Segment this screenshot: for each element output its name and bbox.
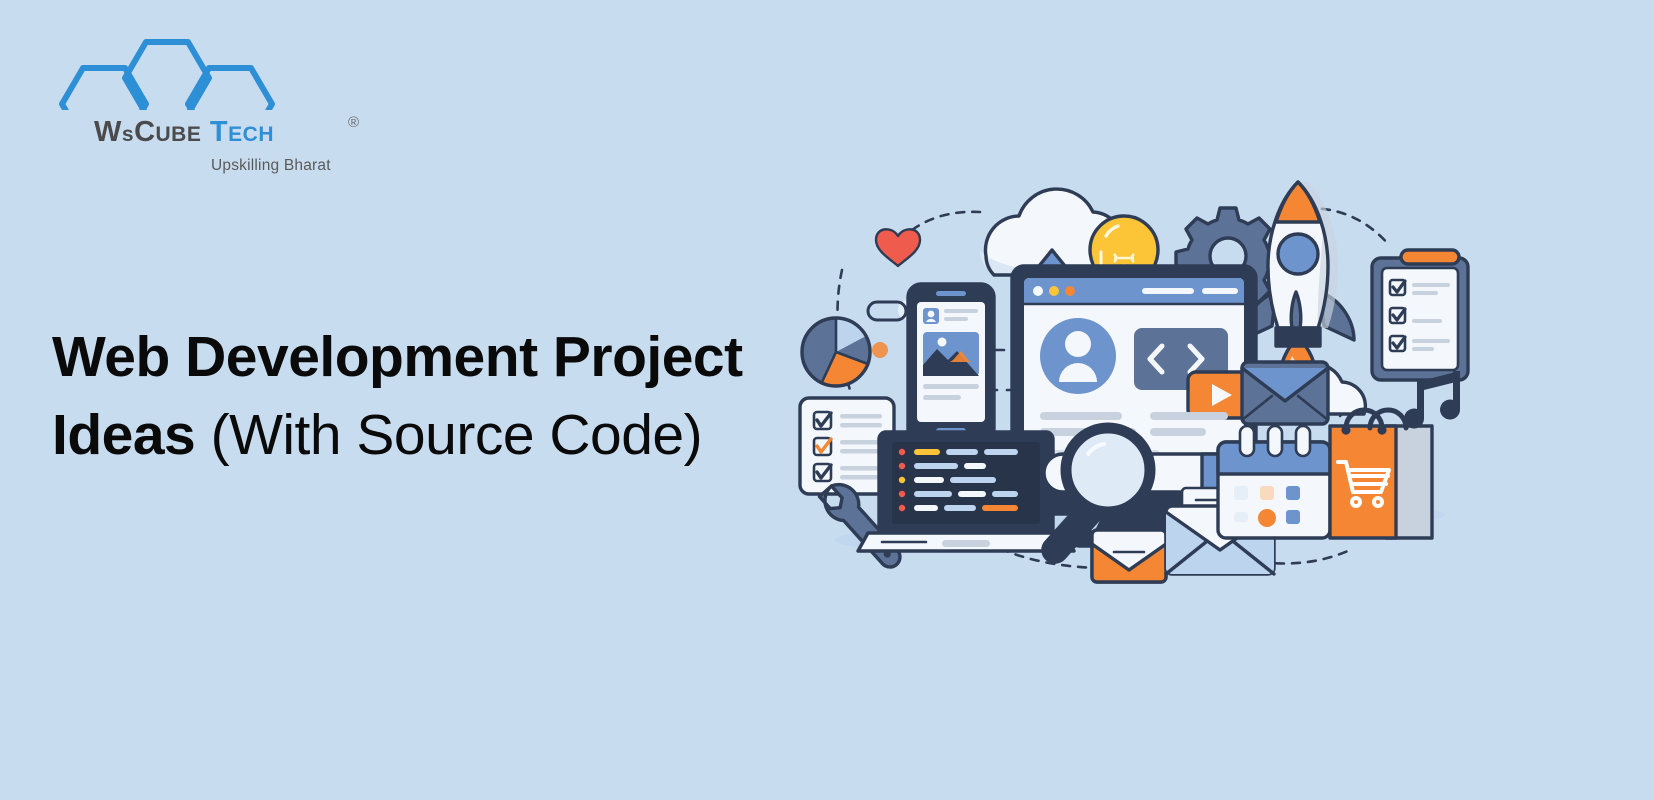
logo-text-t: T (210, 116, 228, 148)
browser-dot-2 (1049, 286, 1059, 296)
calendar-icon (1218, 426, 1330, 538)
browser-dot-3 (1065, 286, 1075, 296)
heart-icon (876, 229, 920, 266)
clipboard-checklist-icon (1372, 250, 1468, 380)
page-title: Web Development Project Ideas (With Sour… (52, 318, 852, 474)
mobile-phone (908, 284, 994, 442)
logo-text-s: s (122, 123, 134, 146)
page-title-light: (With Source Code) (211, 403, 703, 467)
site-logo[interactable]: WsCUBE TECH ® Upskilling Bharat (48, 30, 348, 150)
envelope-orange-icon (1092, 530, 1166, 582)
pie-chart-icon (802, 318, 870, 386)
dashed-connector-topleft (912, 212, 980, 230)
registered-trademark-symbol: ® (348, 114, 359, 131)
browser-dot-1 (1033, 286, 1043, 296)
logo-text-ech: ECH (228, 123, 274, 146)
hexagon-cluster-icon (48, 30, 348, 110)
logo-text-c: C (134, 116, 155, 148)
shopping-bag-icon (1330, 410, 1432, 538)
hero-illustration: .nv{fill:#2e3c55} .sl{fill:#5c7296} .bl{… (790, 150, 1510, 600)
accent-dot (872, 342, 888, 358)
logo-tagline: Upskilling Bharat (211, 157, 331, 175)
logo-text-w: W (94, 116, 122, 148)
logo-wordmark: WsCUBE TECH (94, 118, 274, 147)
logo-text-ube: UBE (156, 123, 202, 146)
envelope-blue-icon (1242, 362, 1328, 424)
laptop-code (858, 432, 1074, 551)
